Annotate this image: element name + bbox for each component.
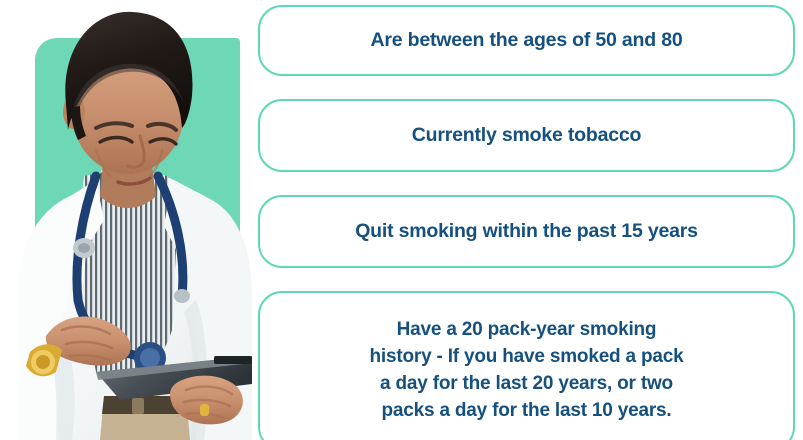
criteria-card-current-smoker-text: Currently smoke tobacco <box>384 125 669 145</box>
criteria-line: packs a day for the last 10 years. <box>370 398 684 425</box>
criteria-line: Have a 20 pack-year smoking <box>370 317 684 344</box>
doctor-with-clipboard-photo <box>0 0 252 440</box>
criteria-line: Currently smoke tobacco <box>412 125 641 145</box>
criteria-line: Quit smoking within the past 15 years <box>355 221 698 241</box>
eligibility-criteria-graphic: Are between the ages of 50 and 80 Curren… <box>0 0 803 440</box>
criteria-card-quit-window[interactable]: Quit smoking within the past 15 years <box>258 195 795 268</box>
doctor-visual-block <box>0 0 252 440</box>
criteria-line: Are between the ages of 50 and 80 <box>370 30 682 50</box>
criteria-line: history - If you have smoked a pack <box>370 344 684 371</box>
criteria-card-pack-year-history-text: Have a 20 pack-year smoking history - If… <box>336 317 718 425</box>
criteria-card-current-smoker[interactable]: Currently smoke tobacco <box>258 99 795 172</box>
criteria-card-list: Are between the ages of 50 and 80 Curren… <box>258 0 803 440</box>
criteria-card-quit-window-text: Quit smoking within the past 15 years <box>327 221 726 241</box>
criteria-card-age-range-text: Are between the ages of 50 and 80 <box>342 30 710 50</box>
criteria-card-pack-year-history[interactable]: Have a 20 pack-year smoking history - If… <box>258 291 795 440</box>
criteria-line: a day for the last 20 years, or two <box>370 371 684 398</box>
criteria-card-age-range[interactable]: Are between the ages of 50 and 80 <box>258 5 795 76</box>
